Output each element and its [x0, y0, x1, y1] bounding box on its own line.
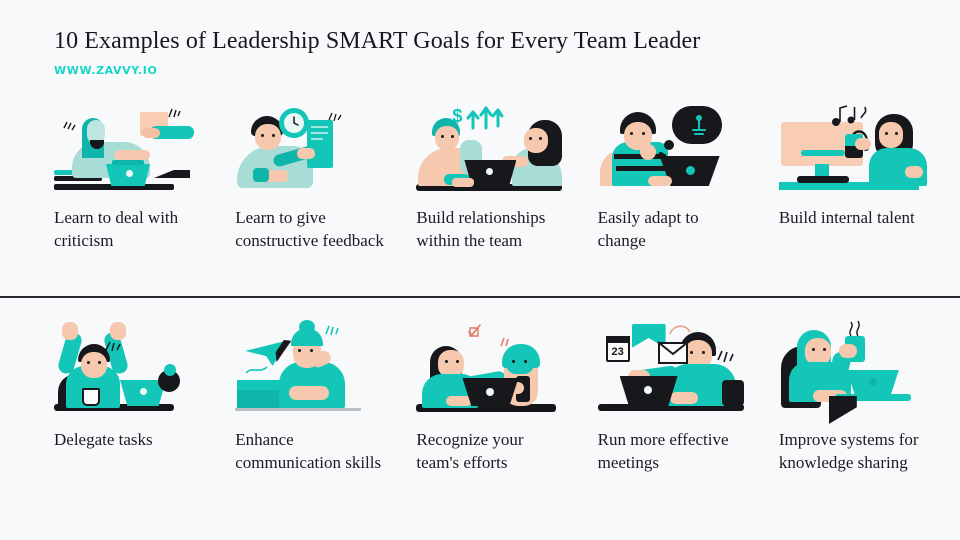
- goal-item-10: Improve systems for knowledge sharing: [779, 318, 960, 475]
- section-divider: [0, 296, 960, 298]
- page-title: 10 Examples of Leadership SMART Goals fo…: [54, 28, 700, 55]
- goal-item-9: 23 Run more effective meetings: [598, 318, 779, 475]
- goal-item-4: Easily adapt to change: [598, 104, 779, 253]
- brand-url: WWW.ZAVVY.IO: [54, 64, 700, 77]
- two-people-at-laptop-with-dollar-arrows-illustration: $: [416, 104, 566, 192]
- person-with-paper-plane-illustration: [235, 318, 385, 416]
- calendar-day-number: 23: [608, 345, 628, 360]
- header: 10 Examples of Leadership SMART Goals fo…: [54, 28, 700, 77]
- money-symbol: $: [452, 106, 464, 126]
- person-with-coffee-and-laptop-illustration: [779, 318, 929, 416]
- goal-caption: Recognize your team's efforts: [416, 428, 566, 475]
- goal-caption: Learn to deal with criticism: [54, 206, 204, 253]
- goal-item-6: Delegate tasks: [54, 318, 235, 475]
- infographic-page: 10 Examples of Leadership SMART Goals fo…: [0, 0, 960, 540]
- person-holding-document-with-clock-illustration: [235, 104, 385, 192]
- person-thinking-at-laptop-illustration: [598, 104, 748, 192]
- goals-row-1: Learn to deal with criticism: [0, 104, 960, 253]
- goals-row-2: Delegate tasks: [0, 318, 960, 475]
- person-arms-raised-with-laptop-illustration: [54, 318, 204, 416]
- goal-caption: Delegate tasks: [54, 428, 204, 451]
- monitor-with-headphones-and-music-notes-illustration-cell: Build internal talent: [779, 104, 960, 253]
- goal-item-8: Recognize your team's efforts: [416, 318, 597, 475]
- goal-item-7: Enhance communication skills: [235, 318, 416, 475]
- two-people-celebrating-at-laptop-illustration: [416, 318, 566, 416]
- goal-item-1: Learn to deal with criticism: [54, 104, 235, 253]
- goal-caption: Enhance communication skills: [235, 428, 385, 475]
- person-receiving-feedback-note-illustration: [54, 104, 204, 192]
- person-with-calendar-and-envelopes-illustration: 23: [598, 318, 748, 416]
- goal-caption: Learn to give constructive feedback: [235, 206, 385, 253]
- goal-caption: Improve systems for knowledge sharing: [779, 428, 929, 475]
- goal-caption: Easily adapt to change: [598, 206, 748, 253]
- goal-caption: Run more effective meetings: [598, 428, 748, 475]
- goal-caption: Build relationships within the team: [416, 206, 566, 253]
- monitor-with-headphones-and-music-notes-illustration: [779, 104, 929, 192]
- goal-item-3: $ Build relationships within the team: [416, 104, 597, 253]
- goal-caption: Build internal talent: [779, 206, 929, 229]
- goal-item-2: Learn to give constructive feedback: [235, 104, 416, 253]
